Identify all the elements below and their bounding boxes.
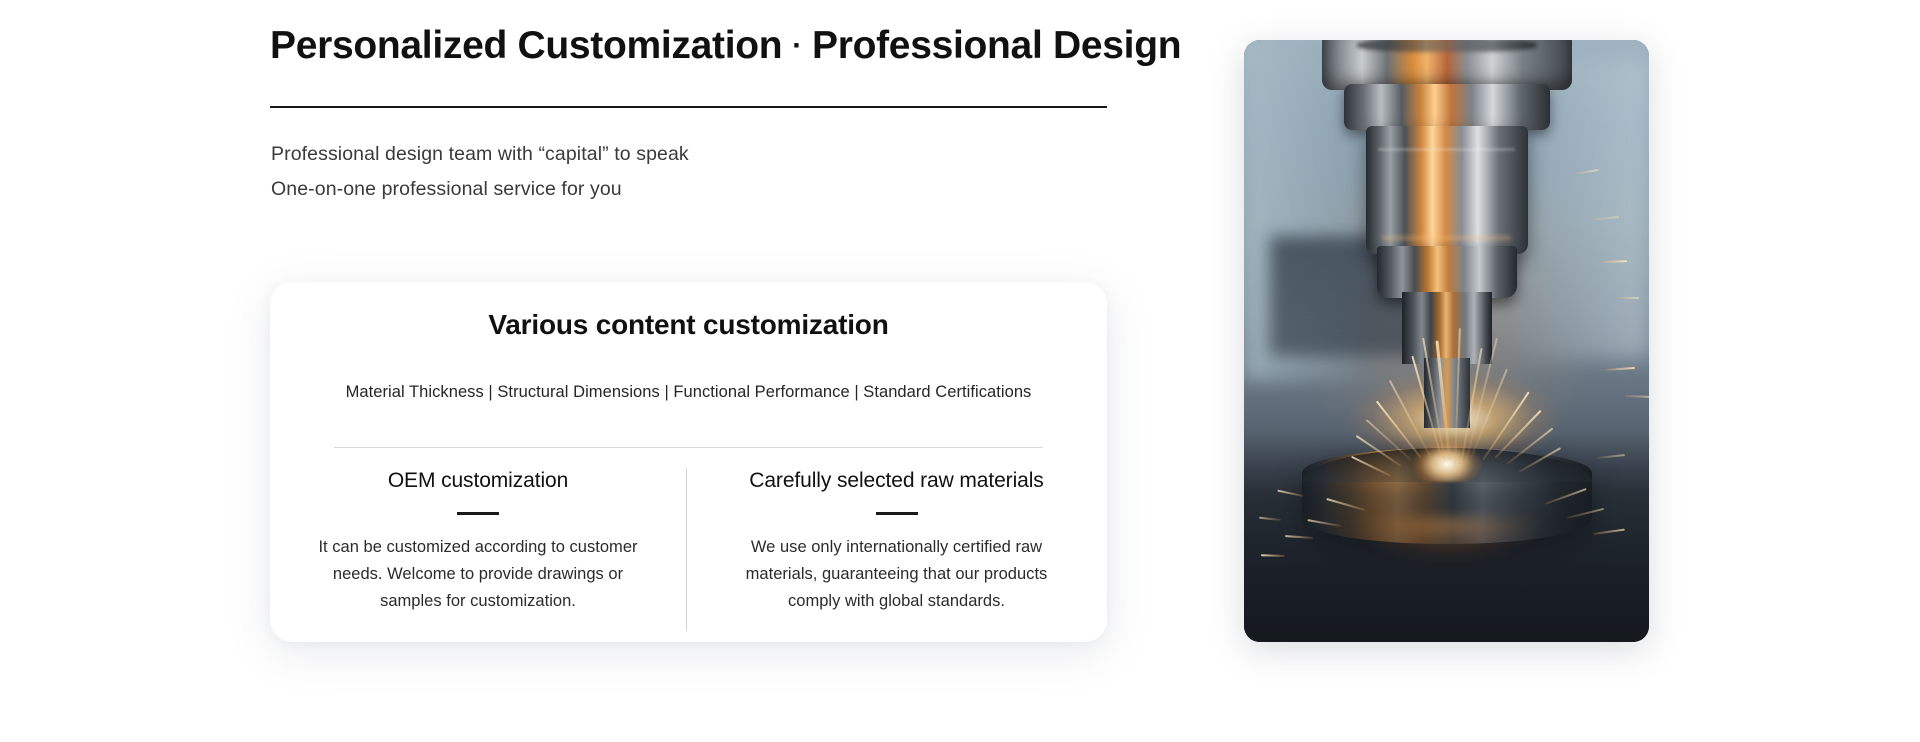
headline-separator: ·	[782, 29, 812, 62]
subtitle-line-2: One-on-one professional service for you	[271, 172, 689, 207]
title-divider	[270, 106, 1107, 108]
customization-card-wrapper: Various content customization Material T…	[270, 252, 1107, 652]
card-horizontal-divider	[334, 447, 1043, 448]
column-accent-underline	[876, 512, 918, 515]
subtitle-block: Professional design team with “capital” …	[271, 137, 689, 207]
subtitle-line-1: Professional design team with “capital” …	[271, 137, 689, 172]
column-title: Carefully selected raw materials	[708, 468, 1085, 494]
photo-tool-collar-lower	[1377, 246, 1517, 298]
column-title: OEM customization	[292, 468, 664, 494]
content-column: Personalized Customization·Professional …	[270, 0, 1130, 742]
card-columns: OEM customization It can be customized a…	[270, 468, 1107, 642]
headline-left-text: Personalized Customization	[270, 24, 782, 67]
column-body: It can be customized according to custom…	[292, 534, 664, 615]
photo-spark	[1605, 367, 1635, 371]
photo-spindle-top	[1322, 40, 1572, 90]
column-body: We use only internationally certified ra…	[708, 534, 1085, 615]
photo-table-reflection	[1317, 518, 1577, 636]
headline-right-text: Professional Design	[812, 24, 1181, 67]
card-tag-list: Material Thickness | Structural Dimensio…	[270, 383, 1107, 402]
photo-spark	[1625, 395, 1649, 398]
photo-tool-collar-upper	[1344, 84, 1550, 130]
customization-card: Various content customization Material T…	[270, 282, 1107, 642]
promo-section: Personalized Customization·Professional …	[0, 0, 1920, 742]
photo-spark	[1617, 297, 1639, 299]
page-title: Personalized Customization·Professional …	[270, 24, 1181, 68]
machining-photo	[1244, 40, 1649, 642]
photo-tool-body	[1366, 126, 1528, 254]
column-raw-materials: Carefully selected raw materials We use …	[686, 468, 1107, 642]
column-accent-underline	[457, 512, 499, 515]
photo-tool-shank	[1402, 292, 1492, 364]
card-title: Various content customization	[270, 309, 1107, 341]
machining-photo-image	[1244, 40, 1649, 642]
column-oem-customization: OEM customization It can be customized a…	[270, 468, 686, 642]
